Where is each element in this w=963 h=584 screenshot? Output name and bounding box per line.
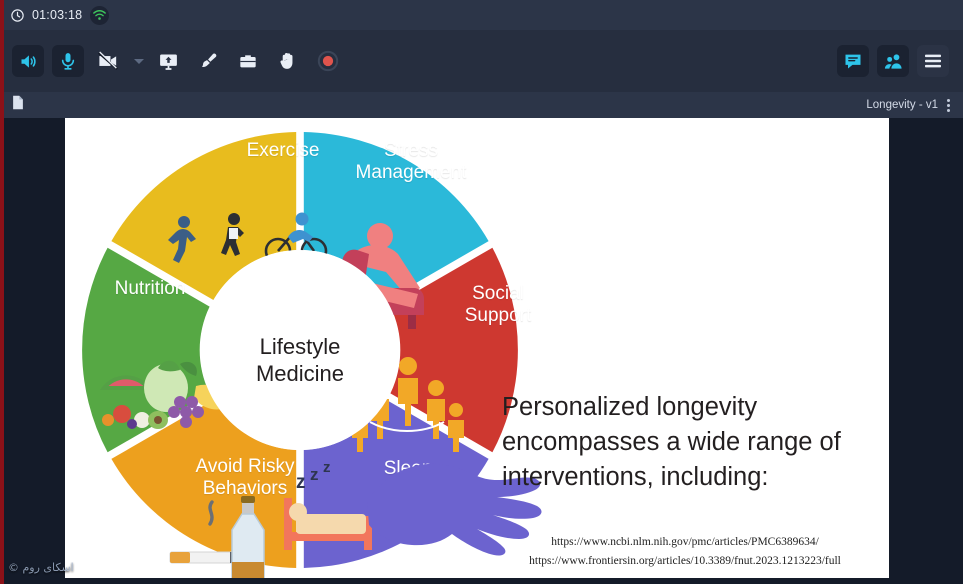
camera-off-icon <box>97 50 119 72</box>
skyroom-watermark: اسکای روم © <box>8 561 74 574</box>
record-button[interactable] <box>312 45 344 77</box>
wifi-signal-icon <box>90 6 109 25</box>
brush-icon <box>198 51 219 72</box>
microphone-icon <box>58 51 78 71</box>
clock-icon <box>10 8 25 23</box>
whiteboard-button[interactable] <box>192 45 224 77</box>
wheel-svg: z z z <box>70 120 530 578</box>
slide-body-text: Personalized longevity encompasses a wid… <box>502 390 874 495</box>
svg-text:z: z <box>310 465 319 484</box>
menu-button[interactable] <box>917 45 949 77</box>
record-icon <box>317 50 339 72</box>
document-title: Longevity - v1 <box>866 99 938 111</box>
kebab-menu-icon[interactable] <box>944 97 953 114</box>
camera-button[interactable] <box>92 45 124 77</box>
elapsed-time: 01:03:18 <box>32 8 82 22</box>
left-edge-strip <box>0 0 4 584</box>
presentation-stage: z z z <box>4 118 959 584</box>
slide-references: https://www.ncbi.nlm.nih.gov/pmc/article… <box>485 533 885 571</box>
skyroom-meeting-window: 01:03:18 <box>0 0 963 584</box>
screen-share-icon <box>158 51 179 72</box>
meeting-toolbar <box>0 30 963 92</box>
lifestyle-medicine-wheel: z z z <box>65 118 535 578</box>
bottom-rail <box>0 578 963 584</box>
document-bar: Longevity - v1 <box>0 92 963 118</box>
status-bar: 01:03:18 <box>0 0 963 30</box>
briefcase-icon <box>238 51 258 71</box>
speaker-button[interactable] <box>12 45 44 77</box>
raise-hand-button[interactable] <box>272 45 304 77</box>
reference-2: https://www.frontiersin.org/articles/10.… <box>485 552 885 571</box>
wheel-hub <box>200 250 400 450</box>
hamburger-menu-icon <box>923 53 943 69</box>
chat-button[interactable] <box>837 45 869 77</box>
toolbar-right-group <box>837 45 963 77</box>
participants-icon <box>883 51 904 72</box>
svg-text:z: z <box>323 459 331 476</box>
hand-icon <box>278 51 298 71</box>
speaker-icon <box>18 51 39 72</box>
toolbar-left-group <box>0 45 344 77</box>
files-button[interactable] <box>232 45 264 77</box>
chevron-down-icon[interactable] <box>134 59 144 64</box>
participants-button[interactable] <box>877 45 909 77</box>
share-screen-button[interactable] <box>152 45 184 77</box>
document-bar-right: Longevity - v1 <box>866 97 963 114</box>
document-icon[interactable] <box>12 95 24 115</box>
reference-1: https://www.ncbi.nlm.nih.gov/pmc/article… <box>485 533 885 552</box>
microphone-button[interactable] <box>52 45 84 77</box>
chat-bubble-icon <box>843 51 863 71</box>
slide-canvas[interactable]: z z z <box>65 118 889 578</box>
svg-text:z: z <box>296 472 306 493</box>
